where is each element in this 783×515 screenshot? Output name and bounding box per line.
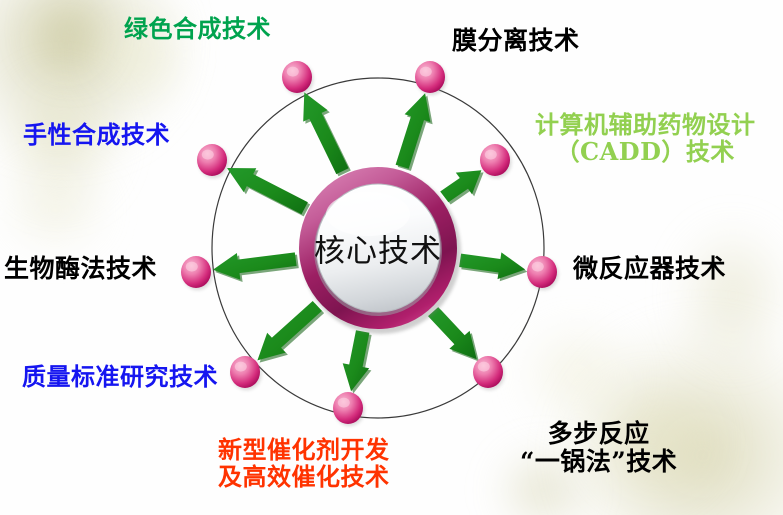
node-sphere (473, 356, 503, 388)
node-microreactor[interactable] (527, 256, 559, 290)
node-sphere (333, 392, 363, 424)
node-sphere (230, 356, 260, 388)
node-quality-standard-label: 质量标准研究技术 (22, 364, 218, 391)
node-multistep-onepot-label-line: “一锅法”技术 (520, 448, 677, 476)
arrow-to-quality-standard (257, 301, 322, 360)
node-new-catalyst[interactable] (333, 392, 365, 426)
node-cadd-label-line: （CADD）技术 (535, 139, 756, 166)
node-multistep-onepot[interactable] (473, 356, 505, 390)
node-chiral-synthesis-label: 手性合成技术 (23, 122, 170, 149)
node-highlight (478, 362, 490, 372)
node-highlight (338, 398, 350, 408)
node-highlight (485, 150, 497, 160)
node-new-catalyst-label-line: 新型催化剂开发 (218, 437, 390, 464)
node-sphere (181, 256, 211, 288)
node-bioenzyme[interactable] (181, 256, 213, 290)
node-sphere (480, 144, 510, 176)
node-highlight (186, 262, 198, 272)
node-highlight (202, 150, 214, 160)
node-bioenzyme-label-line: 生物酶法技术 (4, 255, 157, 283)
slide-canvas: 核心技术 绿色合成技术膜分离技术计算机辅助药物设计（CADD）技术微反应器技术多… (0, 0, 783, 515)
core-label: 核心技术 (314, 226, 442, 271)
node-chiral-synthesis[interactable] (197, 144, 229, 178)
node-green-synthesis[interactable] (282, 61, 314, 95)
node-highlight (420, 67, 432, 77)
node-multistep-onepot-label-line: 多步反应 (520, 420, 677, 448)
node-quality-standard-label-line: 质量标准研究技术 (22, 364, 218, 391)
node-bioenzyme-label: 生物酶法技术 (4, 255, 157, 283)
node-quality-standard[interactable] (230, 356, 262, 390)
node-membrane-separation-label-line: 膜分离技术 (452, 27, 580, 55)
node-chiral-synthesis-label-line: 手性合成技术 (23, 122, 170, 149)
node-sphere (282, 61, 312, 93)
node-membrane-separation-label: 膜分离技术 (452, 27, 580, 55)
node-cadd[interactable] (480, 144, 512, 178)
node-sphere (197, 144, 227, 176)
arrow-to-multistep-onepot (428, 307, 477, 359)
node-sphere (527, 256, 557, 288)
node-highlight (235, 362, 247, 372)
arrow-to-green-synthesis (303, 92, 348, 174)
arrow-to-chiral-synthesis (227, 168, 308, 214)
node-microreactor-label-line: 微反应器技术 (573, 255, 726, 283)
node-cadd-label: 计算机辅助药物设计（CADD）技术 (535, 112, 756, 166)
node-cadd-label-line: 计算机辅助药物设计 (535, 112, 756, 139)
node-membrane-separation[interactable] (415, 61, 447, 95)
node-multistep-onepot-label: 多步反应“一锅法”技术 (520, 420, 677, 476)
node-new-catalyst-label: 新型催化剂开发及高效催化技术 (218, 437, 390, 491)
node-sphere (415, 61, 445, 93)
node-green-synthesis-label-line: 绿色合成技术 (124, 16, 271, 43)
node-microreactor-label: 微反应器技术 (573, 255, 726, 283)
node-highlight (532, 262, 544, 272)
node-new-catalyst-label-line: 及高效催化技术 (218, 464, 390, 491)
node-green-synthesis-label: 绿色合成技术 (124, 16, 271, 43)
node-highlight (287, 67, 299, 77)
